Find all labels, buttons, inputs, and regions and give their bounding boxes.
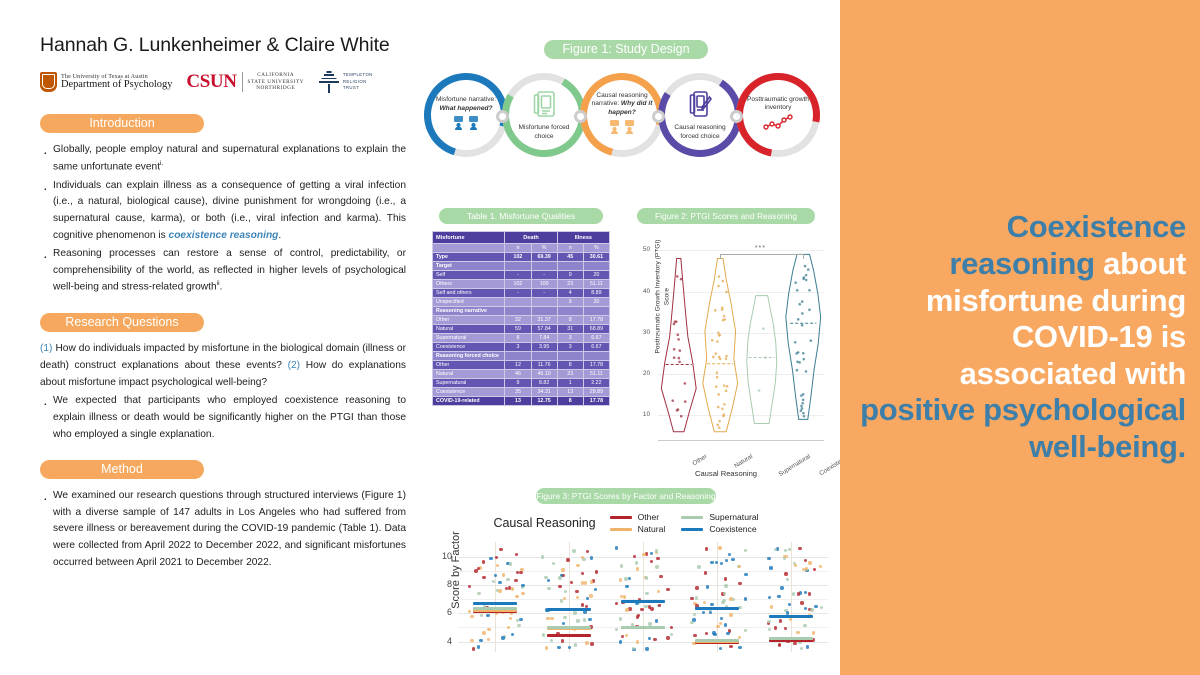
table-row-label: Reasoning narrative [433, 307, 505, 316]
figure3-mean-bar-other [547, 634, 591, 637]
table-row-label: Coexistence [433, 343, 505, 352]
table-cell: 8 [557, 397, 583, 406]
line-chart-icon [763, 114, 793, 134]
violin-point [673, 348, 676, 351]
figure3-point [653, 638, 656, 641]
figure3-point [803, 624, 806, 627]
table-cell: 17.78 [583, 316, 609, 325]
table-header-row: Misfortune Death Illness [433, 232, 610, 244]
figure3-point [620, 564, 623, 567]
legend-item-natural: Natural [610, 524, 666, 534]
method-header: Method [40, 460, 204, 479]
violin-point [673, 323, 676, 326]
violin-point [676, 275, 679, 278]
table-cell [531, 352, 557, 361]
figure1-caption: Figure 1: Study Design [544, 40, 708, 59]
table-cell: 20 [583, 271, 609, 280]
table-cell: 6.67 [583, 343, 609, 352]
table-cell: - [531, 271, 557, 280]
study-step-1-emphasis: What happened? [439, 105, 492, 112]
figure3-point [636, 615, 639, 618]
figure3-point [774, 626, 777, 629]
table-row: Type10269.394530.61 [433, 253, 610, 262]
table-cell: 8.89 [583, 289, 609, 298]
figure3-point [813, 568, 816, 571]
figure3-group-stem-4 [791, 542, 792, 652]
figure3-point [550, 617, 553, 620]
significance-bar [720, 254, 803, 255]
figure3-point [511, 633, 514, 636]
figure3-point [594, 588, 597, 591]
violin-point [711, 339, 714, 342]
templeton-mark-icon [318, 70, 340, 94]
table-cell [531, 307, 557, 316]
figure3-point [648, 637, 651, 640]
table-cell: 8.82 [531, 379, 557, 388]
violin-point [684, 400, 687, 403]
figure3-point [588, 618, 591, 621]
violin-point [810, 339, 813, 342]
table-subheader-cell: n [557, 244, 583, 253]
th-illness: Illness [557, 232, 609, 244]
figure3-caption: Figure 3: PTGI Scores by Factor and Reas… [536, 488, 716, 504]
figure3-point [720, 562, 723, 565]
method-bullet-list: We examined our research questions throu… [40, 488, 406, 571]
violin-point [725, 291, 728, 294]
violin-point [801, 300, 804, 303]
figure3-point [496, 564, 499, 567]
table-row-label: Target [433, 262, 505, 271]
table-cell: 12.75 [531, 397, 557, 406]
figure3-point [574, 643, 577, 646]
legend-label-natural: Natural [638, 524, 666, 534]
legend-item-supernatural: Supernatural [681, 512, 758, 522]
figure3-point [645, 576, 648, 579]
figure3-point [515, 595, 518, 598]
violin-point [684, 382, 687, 385]
violin-point [716, 371, 719, 374]
table-row: Supernatural87.8436.67 [433, 334, 610, 343]
figure3-point [808, 592, 811, 595]
figure3-point [595, 570, 598, 573]
figure3-point [819, 565, 822, 568]
legend-swatch-natural [610, 528, 632, 531]
legend-label-coexistence: Coexistence [709, 524, 756, 534]
list-item: We expected that participants who employ… [40, 393, 406, 443]
table-cell [583, 352, 609, 361]
figure3-point [710, 603, 713, 606]
figure3-point [487, 638, 490, 641]
authors-title: Hannah G. Lunkenheimer & Claire White [40, 34, 406, 57]
figure3-point [576, 619, 579, 622]
table-cell: 9 [505, 379, 531, 388]
table-row: Other3231.37817.78 [433, 316, 610, 325]
violin-point [721, 408, 724, 411]
figure3-point [581, 572, 584, 575]
violin-point [723, 318, 726, 321]
violin-point [721, 308, 724, 311]
figure3-point [576, 564, 579, 567]
templeton-line1: TEMPLETON [343, 72, 373, 78]
study-step-2-label: Misfortune forced choice [511, 124, 577, 140]
violin-point [796, 289, 799, 292]
figure3-group-stem-3 [717, 542, 718, 652]
figure3-point [482, 576, 485, 579]
significance-stars: *** [755, 245, 766, 252]
figure3-point [666, 588, 669, 591]
figure3-point [645, 647, 648, 650]
figure3-point [814, 605, 817, 608]
figure3-point [794, 564, 797, 567]
table-subheader-cell: % [583, 244, 609, 253]
figure3-point [744, 629, 747, 632]
table-row: Self and others--48.89 [433, 289, 610, 298]
figure3-point [552, 562, 555, 565]
figure3-point [558, 585, 561, 588]
table-row-label: Self [433, 271, 505, 280]
figure3-point [796, 631, 799, 634]
violin-point [714, 309, 717, 312]
violin-point [804, 265, 807, 268]
violin-point [715, 385, 718, 388]
violin-point [797, 318, 800, 321]
connector-knot-4 [730, 110, 743, 123]
figure3-point [769, 566, 772, 569]
violin-point [678, 357, 681, 360]
figure3-point [562, 622, 565, 625]
figure3-point [564, 590, 567, 593]
figure3-point [576, 596, 579, 599]
legend-label-other: Other [638, 512, 660, 522]
figure2-violins [624, 228, 828, 476]
ut-logo-line2: Department of Psychology [61, 80, 172, 91]
figure3-point [633, 555, 636, 558]
tablet-pencil-icon [688, 91, 712, 121]
table-cell [531, 298, 557, 307]
figure3-point [768, 628, 771, 631]
figure3-mean-bar-coexistence [621, 600, 665, 603]
table1-misfortune-qualities: Misfortune Death Illness n%n%Type10269.3… [432, 231, 610, 406]
violin-point [718, 356, 721, 359]
figure3-point [706, 585, 709, 588]
table-cell: 17.78 [583, 361, 609, 370]
table-cell: 8 [557, 361, 583, 370]
violin-point [722, 280, 725, 283]
table-row: Self--920 [433, 271, 610, 280]
violin-point [802, 352, 805, 355]
table-cell [583, 307, 609, 316]
figure3-point [590, 580, 593, 583]
table-cell: 59 [505, 325, 531, 334]
figure3-point [786, 578, 789, 581]
table-row: Reasoning forced choice [433, 352, 610, 361]
violin-point [677, 408, 680, 411]
table-cell: 31 [557, 325, 583, 334]
figure3-point [718, 546, 721, 549]
figure3-point [615, 602, 618, 605]
figure3-point [575, 590, 578, 593]
violin-point [805, 274, 808, 277]
tablet-form-icon [533, 91, 555, 121]
violin-point [725, 358, 728, 361]
violin-point [802, 399, 805, 402]
figure3-point [716, 625, 719, 628]
figure3-point [788, 603, 791, 606]
figure3-point [514, 579, 517, 582]
figure3-point [806, 645, 809, 648]
figure3-point [645, 592, 648, 595]
conclusion-panel: Coexistence reasoning about misfortune d… [840, 0, 1200, 675]
figure3-point [774, 548, 777, 551]
figure3-mean-bar-supernatural [769, 637, 813, 640]
figure3-point [479, 639, 482, 642]
figure3-legend-title: Causal Reasoning [493, 516, 595, 530]
csun-divider [242, 72, 243, 92]
figure3-point [720, 617, 723, 620]
table-row: Natural5957.843168.89 [433, 325, 610, 334]
violin-other [661, 259, 696, 432]
violin-point [725, 389, 728, 392]
legend-label-supernatural: Supernatural [709, 512, 758, 522]
figure3-point [778, 644, 781, 647]
figure3-point [820, 606, 823, 609]
figure3-point [572, 549, 575, 552]
figure3-point [619, 617, 622, 620]
intro-sup-3: ii [217, 280, 220, 287]
figure3-point [712, 631, 715, 634]
figure3-point [625, 608, 628, 611]
figure3-point [570, 581, 573, 584]
table-cell [583, 262, 609, 271]
table-cell: 57.84 [531, 325, 557, 334]
figure3-point [506, 578, 509, 581]
violin-point [675, 320, 678, 323]
figure3-point [545, 646, 548, 649]
table-cell: 13 [505, 397, 531, 406]
figure3-point [725, 559, 728, 562]
figure3-scatter-plot: Score by Factor 10864 [458, 542, 828, 652]
table-cell: 8 [557, 316, 583, 325]
connector-knot-3 [652, 110, 665, 123]
violin-point [716, 340, 719, 343]
figure3-point [635, 561, 638, 564]
figure3-point [628, 577, 631, 580]
figure3-point [729, 613, 732, 616]
figure3-point [474, 569, 477, 572]
figure3-point [517, 624, 520, 627]
figure3-point [498, 589, 501, 592]
figure3-point [804, 591, 807, 594]
violin-point [802, 412, 805, 415]
list-item: We examined our research questions throu… [40, 488, 406, 571]
figure3-y-tick: 6 [434, 607, 452, 617]
figure3-point [642, 553, 645, 556]
table1-caption: Table 1. Misfortune Qualities [439, 208, 603, 224]
figure3-point [780, 586, 783, 589]
figure3-point [519, 618, 522, 621]
figure3-point [502, 573, 505, 576]
table-cell: 28.89 [583, 388, 609, 397]
list-item: Reasoning processes can restore a sense … [40, 246, 406, 296]
figure3-point [482, 631, 485, 634]
figure3-point [731, 558, 734, 561]
violin-point [716, 424, 719, 427]
figure3-point [768, 596, 771, 599]
left-column: Hannah G. Lunkenheimer & Claire White Th… [40, 34, 406, 573]
introduction-header: Introduction [40, 114, 204, 133]
figure3-point [723, 592, 726, 595]
figure3-point [563, 616, 566, 619]
figure3-point [693, 634, 696, 637]
table-cell: 100 [531, 280, 557, 289]
figure3-point [519, 571, 522, 574]
violin-supernatural [747, 296, 777, 424]
violin-point [723, 413, 726, 416]
violin-point [803, 415, 806, 418]
table-cell: 9 [557, 298, 583, 307]
figure3-point [499, 548, 502, 551]
figure3-block: Figure 3: PTGI Scores by Factor and Reas… [424, 488, 828, 652]
coexistence-reasoning-term: coexistence reasoning [169, 230, 279, 241]
figure3-point [589, 594, 592, 597]
figure3-point [710, 561, 713, 564]
figure3-group-stem-2 [643, 542, 644, 652]
intro-sup-1: i. [160, 160, 163, 167]
violin-point [801, 312, 804, 315]
figure3-point [800, 647, 803, 650]
table-cell [531, 262, 557, 271]
figure2-caption: Figure 2: PTGI Scores and Reasoning [637, 208, 815, 224]
figure3-point [666, 636, 669, 639]
table-row-label: Reasoning forced choice [433, 352, 505, 361]
figure3-point [659, 575, 662, 578]
figure3-point [724, 577, 727, 580]
violin-point [716, 376, 719, 379]
figure3-point [784, 572, 787, 575]
figure3-point [566, 558, 569, 561]
figure3-point [470, 639, 473, 642]
table-row: Coexistence3534.311328.89 [433, 388, 610, 397]
figure3-point [487, 628, 490, 631]
violin-point [801, 324, 804, 327]
table-row-label: Natural [433, 370, 505, 379]
csun-sub1: CALIFORNIA [248, 72, 304, 79]
figure3-point [797, 592, 800, 595]
table-cell [505, 298, 531, 307]
poster-root: Hannah G. Lunkenheimer & Claire White Th… [0, 0, 1200, 675]
figure3-point [705, 632, 708, 635]
violin-point [723, 315, 726, 318]
table-cell: 20 [583, 298, 609, 307]
figure3-point [511, 587, 514, 590]
method-section: Method We examined our research question… [40, 460, 406, 571]
violin-point [717, 331, 720, 334]
table1-body: n%n%Type10269.394530.61TargetSelf--920Ot… [433, 244, 610, 406]
table-cell: 17.78 [583, 397, 609, 406]
figure3-point [656, 557, 659, 560]
table-row-label: Type [433, 253, 505, 262]
violin-point [803, 276, 806, 279]
figure3-point [690, 597, 693, 600]
logo-row: The University of Texas at Austin Depart… [40, 67, 406, 97]
table-row-label: Others [433, 280, 505, 289]
table-cell: 11.76 [531, 361, 557, 370]
table-cell: 12 [505, 361, 531, 370]
violin-point [712, 356, 715, 359]
figure3-point [547, 579, 550, 582]
figure3-point [784, 549, 787, 552]
figure3-point [812, 631, 815, 634]
conclusion-fragment-0: Coexistence [1007, 209, 1186, 244]
violin-point [808, 289, 811, 292]
templeton-line3: TRUST [343, 85, 373, 91]
figure3-point [581, 603, 584, 606]
table-cell: 23 [557, 280, 583, 289]
figure3-point [804, 559, 807, 562]
figure3-point [472, 647, 475, 650]
violin-point [801, 402, 804, 405]
question-2-number: (2) [288, 360, 300, 371]
conclusion-fragment-6: positive psychological well-being. [860, 392, 1186, 464]
violin-point [762, 327, 765, 330]
table-cell: - [531, 289, 557, 298]
intro-bullet-3-text: Reasoning processes can restore a sense … [53, 248, 406, 293]
templeton-logo: TEMPLETON RELIGION TRUST [318, 70, 373, 94]
figure3-point [738, 646, 741, 649]
figure3-point [690, 621, 693, 624]
figure3-point [590, 642, 593, 645]
ut-shield-icon [40, 72, 57, 92]
figure3-point [509, 617, 512, 620]
figure3-point [585, 641, 588, 644]
figure3-point [650, 552, 653, 555]
table-row-label: Supernatural [433, 334, 505, 343]
violin-point [805, 370, 808, 373]
figure3-point [693, 613, 696, 616]
violin-point [679, 349, 682, 352]
table-cell [557, 352, 583, 361]
figure3-point [542, 633, 545, 636]
table-cell: 23 [557, 370, 583, 379]
table-row-label: Natural [433, 325, 505, 334]
figure3-point [726, 632, 729, 635]
violin-point [718, 334, 721, 337]
violin-point [764, 356, 767, 359]
figure3-point [655, 619, 658, 622]
table-cell: 102 [505, 253, 531, 262]
figure3-point [568, 646, 571, 649]
violin-point [794, 281, 797, 284]
study-step-4-label: Causal reasoning forced choice [667, 124, 733, 140]
figure3-point [541, 555, 544, 558]
table-cell: 3 [505, 343, 531, 352]
figure3-point [744, 573, 747, 576]
figure3-point [738, 565, 741, 568]
figure3-point [582, 558, 585, 561]
figure3-point [492, 580, 495, 583]
conclusion-fragment-2: about [1103, 246, 1186, 281]
table-row-label: Supernatural [433, 379, 505, 388]
figure3-point [495, 556, 498, 559]
violin-point [718, 420, 721, 423]
figure3-mean-bar-supernatural [695, 639, 739, 642]
table-cell: 35 [505, 388, 531, 397]
table-cell: 1 [557, 379, 583, 388]
table-cell [557, 307, 583, 316]
figure3-point [509, 562, 512, 565]
figure3-point [508, 586, 511, 589]
table-subheader-row: n%n% [433, 244, 610, 253]
